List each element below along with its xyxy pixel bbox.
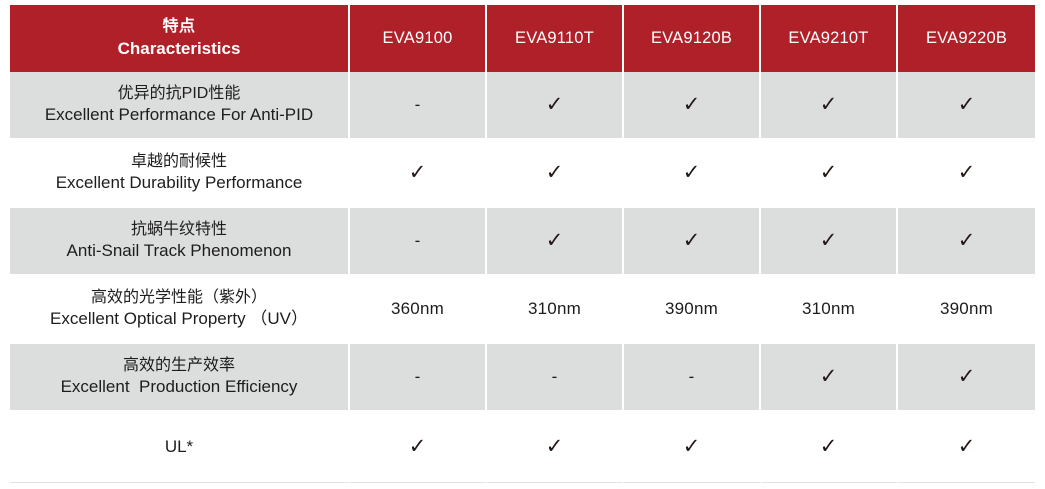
check-icon: ✓ (683, 230, 701, 251)
cell-anti-pid-eva9220b: ✓ (898, 72, 1035, 140)
check-icon: ✓ (409, 436, 427, 457)
cell-optical-eva9210t: 310nm (761, 276, 898, 344)
check-icon: ✓ (820, 366, 838, 387)
check-icon: ✓ (958, 162, 976, 183)
cell-anti-pid-eva9210t: ✓ (761, 72, 898, 140)
row-label-en: Excellent Optical Property （UV） (18, 308, 340, 330)
row-label-cn: 卓越的耐候性 (18, 152, 340, 173)
check-icon: ✓ (820, 162, 838, 183)
value-text: 310nm (528, 299, 581, 319)
cell-ul-eva9220b: ✓ (898, 412, 1035, 483)
cell-ul-eva9210t: ✓ (761, 412, 898, 483)
cell-anti-pid-eva9100: - (350, 72, 487, 140)
row-label-en: Excellent Durability Performance (18, 172, 340, 194)
check-icon: ✓ (546, 94, 564, 115)
product-comparison-table-container: 特点 Characteristics EVA9100 EVA9110T EVA9… (10, 5, 1035, 484)
check-icon: ✓ (683, 94, 701, 115)
cell-optical-eva9120b: 390nm (624, 276, 761, 344)
cell-anti-snail-eva9210t: ✓ (761, 208, 898, 276)
cell-production-eva9100: - (350, 344, 487, 412)
table-row: 卓越的耐候性 Excellent Durability Performance … (10, 140, 1035, 208)
row-label-en: UL* (18, 436, 340, 458)
row-label-en: Anti-Snail Track Phenomenon (18, 240, 340, 262)
cell-durability-eva9120b: ✓ (624, 140, 761, 208)
header-product-eva9110t: EVA9110T (487, 5, 624, 72)
table-row: 高效的光学性能（紫外） Excellent Optical Property （… (10, 276, 1035, 344)
row-label-cn: 优异的抗PID性能 (18, 84, 340, 105)
value-text: 360nm (391, 299, 444, 319)
header-row: 特点 Characteristics EVA9100 EVA9110T EVA9… (10, 5, 1035, 72)
check-icon: ✓ (820, 230, 838, 251)
dash-icon: - (689, 368, 695, 385)
header-product-eva9210t: EVA9210T (761, 5, 898, 72)
row-label-anti-snail-track: 抗蜗牛纹特性 Anti-Snail Track Phenomenon (10, 208, 350, 276)
row-label-optical-property: 高效的光学性能（紫外） Excellent Optical Property （… (10, 276, 350, 344)
cell-ul-eva9100: ✓ (350, 412, 487, 483)
cell-anti-snail-eva9110t: ✓ (487, 208, 624, 276)
header-characteristics-en: Characteristics (10, 38, 348, 60)
dash-icon: - (415, 96, 421, 113)
row-label-en: Excellent Production Efficiency (18, 376, 340, 398)
check-icon: ✓ (820, 94, 838, 115)
cell-optical-eva9110t: 310nm (487, 276, 624, 344)
header-characteristics-cn: 特点 (10, 17, 348, 37)
header-product-eva9120b: EVA9120B (624, 5, 761, 72)
dash-icon: - (552, 368, 558, 385)
cell-production-eva9220b: ✓ (898, 344, 1035, 412)
check-icon: ✓ (958, 230, 976, 251)
cell-durability-eva9220b: ✓ (898, 140, 1035, 208)
check-icon: ✓ (958, 436, 976, 457)
row-label-cn: 高效的生产效率 (18, 356, 340, 377)
row-label-en: Excellent Performance For Anti-PID (18, 104, 340, 126)
header-characteristics: 特点 Characteristics (10, 5, 350, 72)
cell-optical-eva9220b: 390nm (898, 276, 1035, 344)
check-icon: ✓ (683, 162, 701, 183)
check-icon: ✓ (958, 366, 976, 387)
cell-ul-eva9120b: ✓ (624, 412, 761, 483)
check-icon: ✓ (546, 162, 564, 183)
check-icon: ✓ (683, 436, 701, 457)
dash-icon: - (415, 232, 421, 249)
check-icon: ✓ (409, 162, 427, 183)
value-text: 390nm (940, 299, 993, 319)
table-row: 抗蜗牛纹特性 Anti-Snail Track Phenomenon - ✓ ✓… (10, 208, 1035, 276)
header-product-eva9100: EVA9100 (350, 5, 487, 72)
cell-anti-pid-eva9120b: ✓ (624, 72, 761, 140)
cell-production-eva9120b: - (624, 344, 761, 412)
cell-durability-eva9100: ✓ (350, 140, 487, 208)
cell-anti-snail-eva9100: - (350, 208, 487, 276)
cell-optical-eva9100: 360nm (350, 276, 487, 344)
product-comparison-table: 特点 Characteristics EVA9100 EVA9110T EVA9… (10, 5, 1035, 483)
check-icon: ✓ (958, 94, 976, 115)
dash-icon: - (415, 368, 421, 385)
cell-durability-eva9210t: ✓ (761, 140, 898, 208)
row-label-cn: 抗蜗牛纹特性 (18, 220, 340, 241)
value-text: 310nm (802, 299, 855, 319)
row-label-cn: 高效的光学性能（紫外） (18, 288, 340, 309)
table-body: 优异的抗PID性能 Excellent Performance For Anti… (10, 72, 1035, 483)
cell-anti-pid-eva9110t: ✓ (487, 72, 624, 140)
table-header: 特点 Characteristics EVA9100 EVA9110T EVA9… (10, 5, 1035, 72)
cell-ul-eva9110t: ✓ (487, 412, 624, 483)
header-product-eva9220b: EVA9220B (898, 5, 1035, 72)
cell-anti-snail-eva9220b: ✓ (898, 208, 1035, 276)
cell-production-eva9110t: - (487, 344, 624, 412)
check-icon: ✓ (546, 230, 564, 251)
row-label-production-efficiency: 高效的生产效率 Excellent Production Efficiency (10, 344, 350, 412)
table-row: 高效的生产效率 Excellent Production Efficiency … (10, 344, 1035, 412)
cell-anti-snail-eva9120b: ✓ (624, 208, 761, 276)
value-text: 390nm (665, 299, 718, 319)
row-label-ul: UL* (10, 412, 350, 483)
table-row: 优异的抗PID性能 Excellent Performance For Anti… (10, 72, 1035, 140)
table-row: UL* ✓ ✓ ✓ ✓ ✓ (10, 412, 1035, 483)
row-label-durability: 卓越的耐候性 Excellent Durability Performance (10, 140, 350, 208)
row-label-anti-pid: 优异的抗PID性能 Excellent Performance For Anti… (10, 72, 350, 140)
check-icon: ✓ (546, 436, 564, 457)
cell-durability-eva9110t: ✓ (487, 140, 624, 208)
check-icon: ✓ (820, 436, 838, 457)
cell-production-eva9210t: ✓ (761, 344, 898, 412)
